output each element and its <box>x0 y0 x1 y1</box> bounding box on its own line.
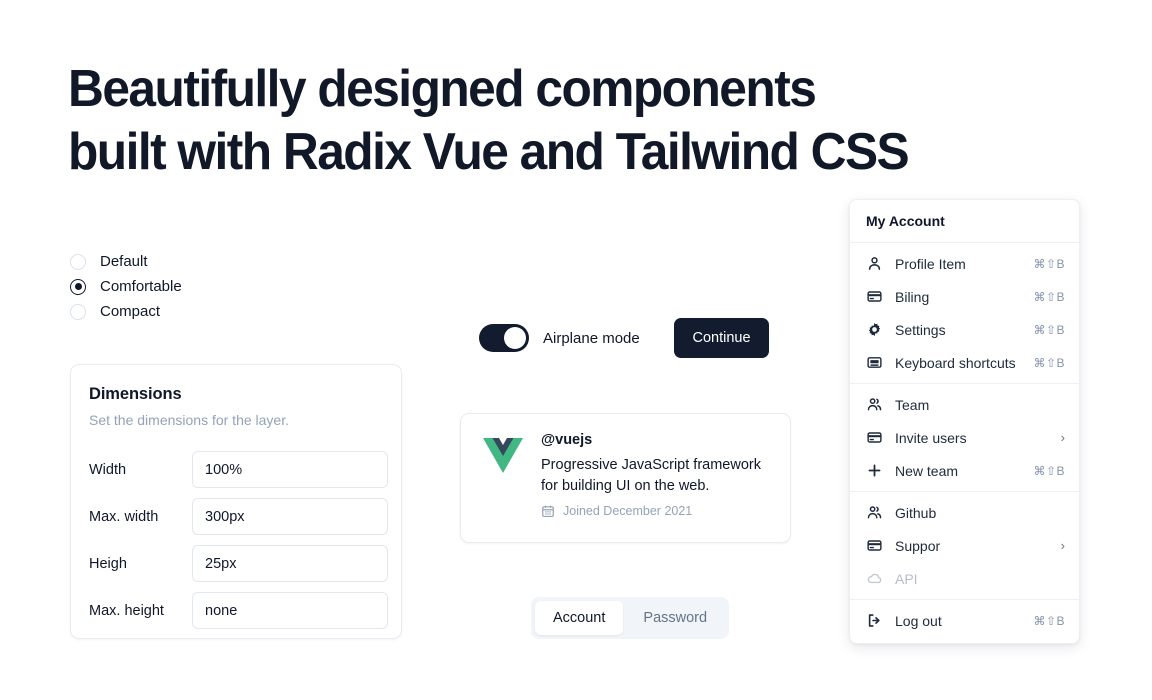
menu-item-invite-users[interactable]: Invite users› <box>850 421 1079 454</box>
menu-separator <box>850 383 1079 384</box>
menu-item-label: Log out <box>895 613 1020 629</box>
hover-card-handle: @vuejs <box>541 432 770 448</box>
radio-option-compact[interactable]: Compact <box>70 299 182 324</box>
radio-option-label: Default <box>100 253 148 270</box>
menu-item-label: Team <box>895 397 1052 413</box>
dimension-row-heigh: Heigh <box>89 540 383 587</box>
menu-item-label: Profile Item <box>895 256 1020 272</box>
menu-item-settings[interactable]: Settings⌘⇧B <box>850 313 1079 346</box>
menu-separator <box>850 491 1079 492</box>
airplane-mode-label: Airplane mode <box>543 330 640 347</box>
menu-item-shortcut: ⌘⇧B <box>1033 323 1065 337</box>
menu-item-shortcut: ⌘⇧B <box>1033 614 1065 628</box>
dimension-row-width: Width <box>89 446 383 493</box>
hover-card: @vuejs Progressive JavaScript framework … <box>460 413 791 543</box>
dimensions-card: Dimensions Set the dimensions for the la… <box>70 364 402 639</box>
menu-item-biling[interactable]: Biling⌘⇧B <box>850 280 1079 313</box>
hover-card-body: @vuejs Progressive JavaScript framework … <box>541 432 770 524</box>
menu-item-api: API <box>850 562 1079 595</box>
menu-item-shortcut: ⌘⇧B <box>1033 257 1065 271</box>
calendar-icon <box>541 504 555 518</box>
menu-item-log-out[interactable]: Log out⌘⇧B <box>850 604 1079 637</box>
menu-item-new-team[interactable]: New team⌘⇧B <box>850 454 1079 487</box>
menu-separator <box>850 599 1079 600</box>
account-dropdown-menu: My Account Profile Item⌘⇧BBiling⌘⇧BSetti… <box>849 199 1080 644</box>
menu-separator <box>850 242 1079 243</box>
chevron-right-icon: › <box>1061 430 1065 445</box>
vue-logo <box>481 436 525 480</box>
logout-icon <box>866 613 882 629</box>
dimension-label-max-width: Max. width <box>89 509 192 525</box>
dimension-input-max-width[interactable] <box>192 498 388 535</box>
users-icon <box>866 397 882 413</box>
tab-account[interactable]: Account <box>535 601 623 635</box>
radio-group-density: DefaultComfortableCompact <box>70 249 182 324</box>
dimension-input-max-height[interactable] <box>192 592 388 629</box>
dimension-label-heigh: Heigh <box>89 556 192 572</box>
airplane-mode-switch[interactable] <box>479 324 529 352</box>
dimension-label-width: Width <box>89 462 192 478</box>
menu-item-suppor[interactable]: Suppor› <box>850 529 1079 562</box>
menu-item-label: New team <box>895 463 1020 479</box>
continue-button[interactable]: Continue <box>674 318 769 358</box>
credit-card-icon <box>866 430 882 446</box>
menu-item-shortcut: ⌘⇧B <box>1033 290 1065 304</box>
keyboard-icon <box>866 355 882 371</box>
menu-item-shortcut: ⌘⇧B <box>1033 464 1065 478</box>
radio-option-label: Compact <box>100 303 160 320</box>
radio-indicator[interactable] <box>70 254 86 270</box>
airplane-mode-row: Airplane mode <box>479 324 640 352</box>
menu-item-shortcut: ⌘⇧B <box>1033 356 1065 370</box>
menu-groups: Profile Item⌘⇧BBiling⌘⇧BSettings⌘⇧BKeybo… <box>850 242 1079 637</box>
radio-indicator[interactable] <box>70 279 86 295</box>
hover-card-joined-text: Joined December 2021 <box>563 504 692 518</box>
radio-option-comfortable[interactable]: Comfortable <box>70 274 182 299</box>
menu-item-label: Biling <box>895 289 1020 305</box>
menu-item-label: Settings <box>895 322 1020 338</box>
dimension-input-width[interactable] <box>192 451 388 488</box>
credit-card-icon <box>866 538 882 554</box>
switch-knob <box>504 327 526 349</box>
dimensions-card-subtitle: Set the dimensions for the layer. <box>89 412 383 428</box>
page-title: Beautifully designed components built wi… <box>68 58 966 184</box>
dimension-input-heigh[interactable] <box>192 545 388 582</box>
menu-item-label: Suppor <box>895 538 1048 554</box>
menu-item-label: Keyboard shortcuts <box>895 355 1020 371</box>
radio-indicator[interactable] <box>70 304 86 320</box>
menu-header-label: My Account <box>850 206 1079 238</box>
dimension-label-max-height: Max. height <box>89 603 192 619</box>
page-root: Beautifully designed components built wi… <box>0 0 1152 700</box>
hover-card-meta: Joined December 2021 <box>541 504 770 518</box>
gear-icon <box>866 322 882 338</box>
chevron-right-icon: › <box>1061 538 1065 553</box>
menu-item-label: Invite users <box>895 430 1048 446</box>
radio-option-label: Comfortable <box>100 278 182 295</box>
menu-item-team[interactable]: Team <box>850 388 1079 421</box>
cloud-icon <box>866 571 882 587</box>
user-icon <box>866 256 882 272</box>
dimension-row-max-height: Max. height <box>89 587 383 634</box>
menu-item-keyboard-shortcuts[interactable]: Keyboard shortcuts⌘⇧B <box>850 346 1079 379</box>
plus-icon <box>866 463 882 479</box>
users-icon <box>866 505 882 521</box>
tab-password[interactable]: Password <box>625 601 725 635</box>
tabs-list: AccountPassword <box>531 597 729 639</box>
menu-item-github[interactable]: Github <box>850 496 1079 529</box>
menu-item-profile-item[interactable]: Profile Item⌘⇧B <box>850 247 1079 280</box>
radio-option-default[interactable]: Default <box>70 249 182 274</box>
credit-card-icon <box>866 289 882 305</box>
menu-item-label: Github <box>895 505 1052 521</box>
menu-item-label: API <box>895 571 1052 587</box>
dimensions-card-title: Dimensions <box>89 385 383 404</box>
dimensions-field-list: WidthMax. widthHeighMax. height <box>89 446 383 634</box>
hover-card-description: Progressive JavaScript framework for bui… <box>541 455 770 497</box>
dimension-row-max-width: Max. width <box>89 493 383 540</box>
